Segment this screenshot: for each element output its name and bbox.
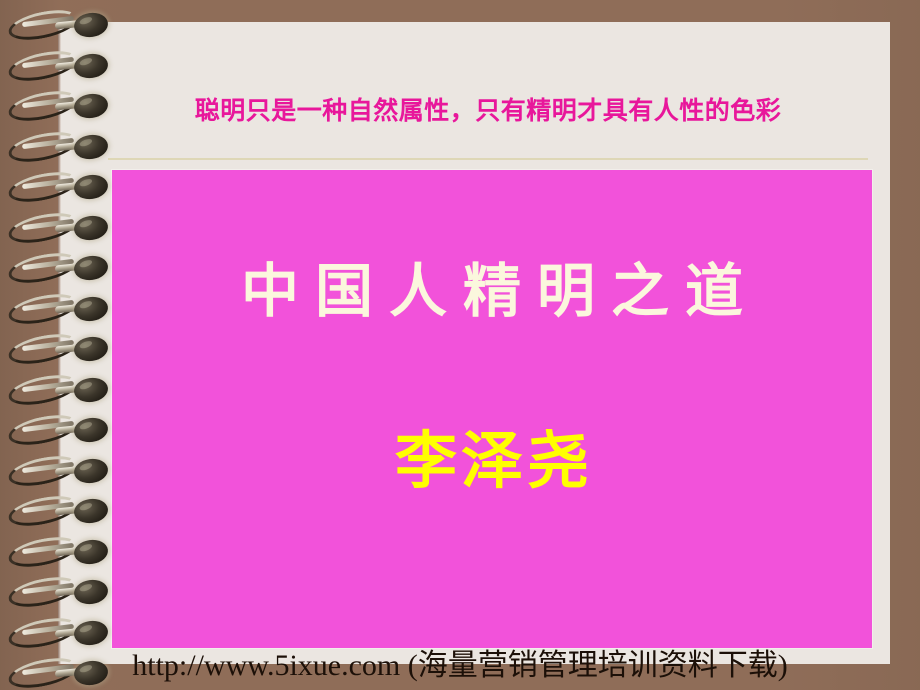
footer-source-url: http://www.5ixue.com (海量营销管理培训资料下载) (0, 646, 920, 686)
slide-canvas: 聪明只是一种自然属性，只有精明才具有人性的色彩 中国人精明之道 李泽尧 http… (0, 0, 920, 690)
author-label: 李泽尧 (112, 424, 872, 498)
slide-subtitle: 聪明只是一种自然属性，只有精明才具有人性的色彩 (108, 94, 868, 128)
page-title: 中国人精明之道 (112, 258, 872, 324)
header-divider (108, 158, 868, 160)
title-panel: 中国人精明之道 李泽尧 (112, 170, 872, 648)
page-binding-crease (58, 22, 61, 664)
